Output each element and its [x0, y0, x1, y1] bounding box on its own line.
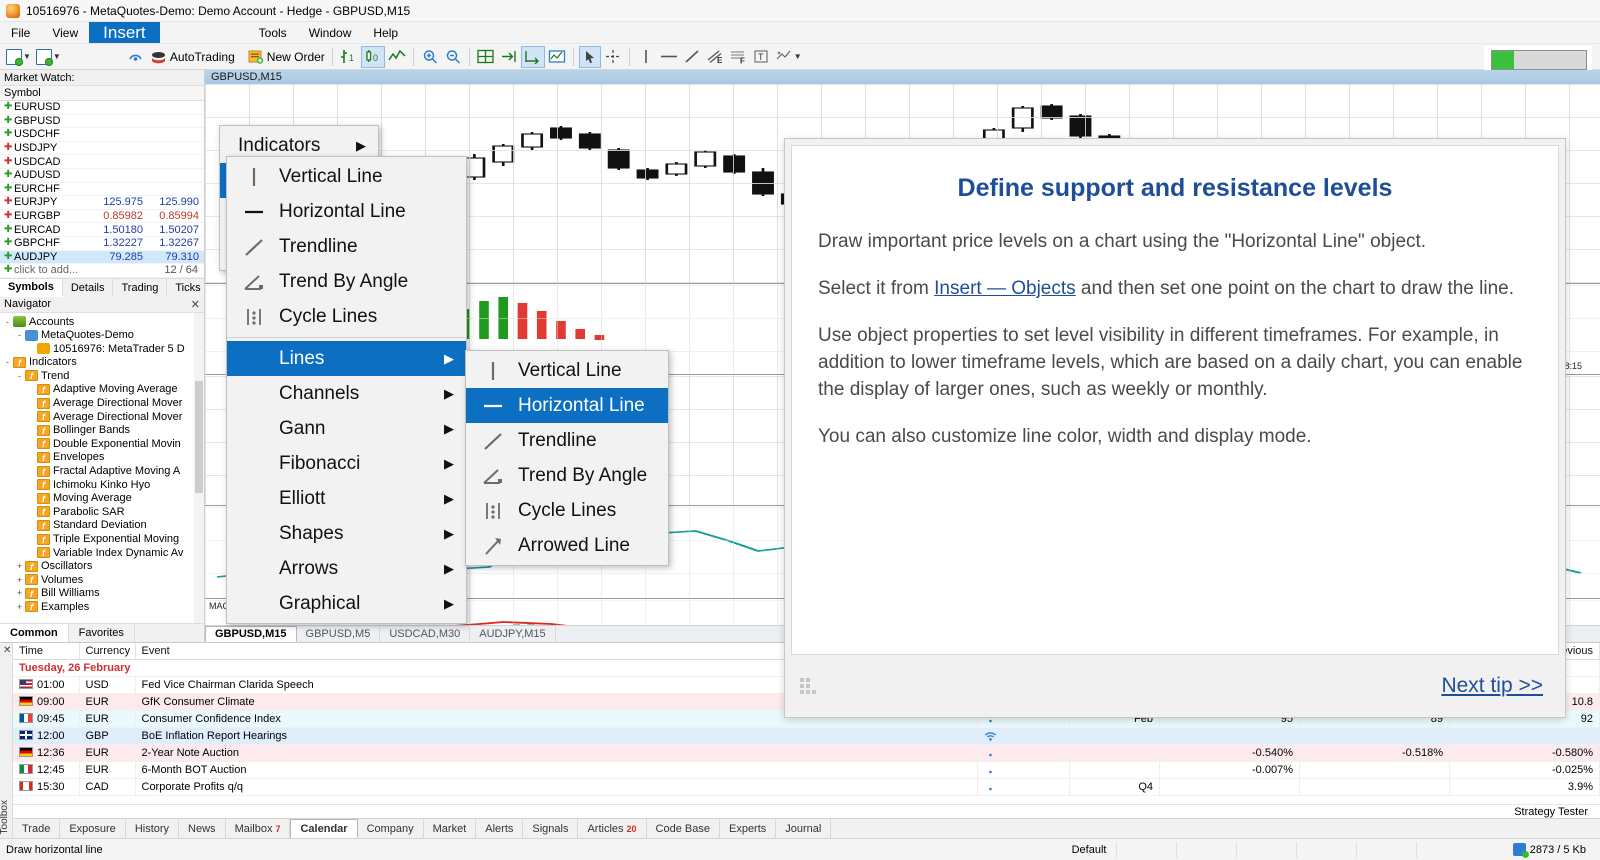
tip-of-the-day-panel: Define support and resistance levels Dra…: [784, 138, 1566, 718]
calendar-priority: [978, 728, 1070, 745]
lines-menu-item-horizontal-line[interactable]: Horizontal Line: [466, 388, 668, 423]
fibonacci-icon: F: [729, 49, 747, 64]
new-order-button[interactable]: New Order: [246, 46, 327, 68]
calendar-priority: [978, 745, 1070, 762]
objects-menu-group-label: Channels: [279, 383, 418, 405]
calendar-row[interactable]: 15:30CADCorporate Profits q/qQ43.9%: [13, 779, 1600, 796]
menu-insert-label: Insert: [103, 23, 146, 43]
chevron-right-icon: ▶: [356, 138, 366, 154]
navigator-tab-common[interactable]: Common: [0, 624, 69, 642]
calendar-currency: CAD: [79, 779, 135, 796]
tree-expander[interactable]: +: [14, 588, 25, 598]
calendar-time: 12:00: [13, 728, 79, 745]
ask-price: 1.32267: [148, 237, 204, 249]
calendar-row[interactable]: 12:36EUR2-Year Note Auction-0.540%-0.518…: [13, 745, 1600, 762]
cycle-lines-icon: [478, 500, 508, 522]
calendar-time: 01:00: [13, 677, 79, 694]
calendar-currency: EUR: [79, 711, 135, 728]
indicator-icon: f: [37, 438, 50, 449]
market-watch-row[interactable]: ✚EURGBP0.859820.85994: [0, 210, 204, 224]
tip-title: Define support and resistance levels: [818, 174, 1532, 203]
navigator-tree-item[interactable]: fFractal Adaptive Moving A: [2, 464, 204, 478]
toolbox-tab-alerts[interactable]: Alerts: [476, 819, 523, 838]
objects-menu-group-elliott[interactable]: Elliott▶: [227, 481, 466, 516]
tree-item-label: Standard Deviation: [53, 519, 147, 531]
objects-menu-group-arrows[interactable]: Arrows▶: [227, 551, 466, 586]
market-watch-tab-ticks[interactable]: Ticks: [167, 279, 209, 297]
objects-menu-group-graphical[interactable]: Graphical▶: [227, 586, 466, 621]
market-watch-row[interactable]: ✚AUDJPY79.28579.310: [0, 251, 204, 265]
menu-help[interactable]: Help: [362, 22, 409, 43]
chart-tab[interactable]: USDCAD,M30: [380, 626, 470, 642]
country-flag-icon: [19, 747, 33, 757]
navigator-tree-item[interactable]: fAverage Directional Mover: [2, 410, 204, 424]
bid-price: 1.50180: [92, 224, 148, 236]
country-flag-icon: [19, 764, 33, 774]
calendar-row[interactable]: 12:45EUR6-Month BOT Auction-0.007%-0.025…: [13, 762, 1600, 779]
vertical-line-icon: [478, 360, 508, 382]
chart-tab[interactable]: GBPUSD,M5: [297, 626, 381, 642]
price-direction-icon: ✚: [4, 225, 14, 235]
progress-fill: [1492, 51, 1514, 69]
tip-p2-after: and then set one point on the chart to d…: [1076, 278, 1514, 299]
indicator-icon: f: [37, 506, 50, 517]
navigator-tree-item[interactable]: fStandard Deviation: [2, 519, 204, 533]
svg-text:T: T: [758, 52, 764, 62]
country-flag-icon: [19, 713, 33, 723]
chevron-down-icon[interactable]: ▼: [53, 52, 61, 61]
market-watch-row[interactable]: ✚EURUSD: [0, 101, 204, 115]
calendar-priority: [978, 779, 1070, 796]
objects-list-button[interactable]: ▼: [773, 46, 804, 68]
price-direction-icon: ✚: [4, 129, 14, 139]
tree-expander[interactable]: +: [14, 561, 25, 571]
bid-price: 0.85982: [92, 210, 148, 222]
left-panel: Market Watch: Symbol ✚EURUSD✚GBPUSD✚USDC…: [0, 70, 205, 642]
toolbox-tab-code-base[interactable]: Code Base: [647, 819, 720, 838]
objects-menu-group-lines[interactable]: Lines▶: [227, 341, 466, 376]
calendar-row[interactable]: 12:00GBPBoE Inflation Report Hearings: [13, 728, 1600, 745]
equidistant-channel-icon: E: [706, 49, 724, 64]
equidistant-channel-tool[interactable]: E: [704, 46, 726, 68]
tree-item-label: Volumes: [41, 574, 83, 586]
market-watch-panel: Market Watch: Symbol ✚EURUSD✚GBPUSD✚USDC…: [0, 70, 204, 297]
market-watch-row[interactable]: ✚EURJPY125.975125.990: [0, 196, 204, 210]
navigator-tree-item[interactable]: fParabolic SAR: [2, 505, 204, 519]
menu-file-label: File: [11, 26, 30, 40]
chevron-right-icon: ▶: [444, 596, 454, 612]
navigator-tree-item[interactable]: +fOscillators: [2, 559, 204, 573]
navigator-tree-item[interactable]: fVariable Index Dynamic Av: [2, 546, 204, 560]
new-order-icon: [248, 50, 264, 64]
menu-help-label: Help: [373, 26, 398, 40]
line-chart-icon: [388, 49, 406, 64]
vertical-line-tool[interactable]: [635, 46, 657, 68]
market-watch-row[interactable]: ✚EURCAD1.501801.50207: [0, 223, 204, 237]
tree-expander[interactable]: -: [2, 357, 13, 367]
toolbox-tab-mailbox[interactable]: Mailbox7: [226, 819, 291, 838]
objects-menu-group-channels[interactable]: Channels▶: [227, 376, 466, 411]
menu-bar: File View Insert Tools Window Help: [0, 22, 1600, 44]
objects-menu-item-label: Trend By Angle: [279, 271, 454, 293]
tree-expander[interactable]: -: [14, 371, 25, 381]
main-toolbar: ▼ ▼ AutoTrading: [0, 44, 1600, 70]
toolbox-tab-label: Company: [367, 823, 414, 835]
ask-price: 1.50207: [148, 224, 204, 236]
calendar-event: Corporate Profits q/q: [135, 779, 978, 796]
vertical-line-icon: [639, 49, 653, 64]
indicator-icon: f: [37, 425, 50, 436]
menu-file[interactable]: File: [0, 22, 41, 43]
metatrader-window: 10516976 - MetaQuotes-Demo: Demo Account…: [0, 0, 1600, 860]
market-watch-row[interactable]: ✚USDCHF: [0, 128, 204, 142]
toolbox-label: Toolbox: [0, 800, 10, 834]
toolbox-tab-label: Alerts: [485, 823, 513, 835]
toolbox-tab-news[interactable]: News: [179, 819, 226, 838]
chart-window-titlebar: GBPUSD,M15: [205, 70, 1600, 84]
network-traffic-label: 2873 / 5 Kb: [1530, 844, 1586, 856]
navigator-scrollbar[interactable]: [194, 313, 204, 623]
zoom-out-icon: [445, 49, 461, 64]
new-chart-button[interactable]: ▼: [4, 46, 33, 68]
bar-chart-icon: 1: [340, 49, 358, 64]
main-area: Market Watch: Symbol ✚EURUSD✚GBPUSD✚USDC…: [0, 70, 1600, 642]
lines-menu-item-arrowed-line[interactable]: Arrowed Line: [466, 528, 668, 563]
toolbox-tab-articles[interactable]: Articles20: [578, 819, 646, 838]
chart-tab[interactable]: AUDJPY,M15: [470, 626, 555, 642]
strategy-tester-strip[interactable]: Strategy Tester: [13, 804, 1600, 818]
tree-item-label: Average Directional Mover: [53, 397, 182, 409]
tip-p2-before: Select it from: [818, 278, 934, 299]
profiles-icon: [36, 49, 52, 65]
chevron-down-icon[interactable]: ▼: [23, 52, 31, 61]
lines-menu-item-trendline[interactable]: Trendline: [466, 423, 668, 458]
status-hint: Draw horizontal line: [6, 844, 117, 856]
indicators-list-icon: [548, 49, 566, 64]
toolbox-tab-company[interactable]: Company: [358, 819, 424, 838]
chevron-right-icon: ▶: [444, 351, 454, 367]
horizontal-line-icon: [478, 395, 508, 417]
market-watch-add-row[interactable]: ✚ click to add... 12 / 64: [0, 264, 204, 278]
toolbox-tab-calendar[interactable]: Calendar: [290, 819, 357, 838]
objects-menu-item[interactable]: Vertical Line: [227, 159, 466, 194]
toolbox-tab-trade[interactable]: Trade: [13, 819, 60, 838]
arrowed-line-icon: [478, 535, 508, 557]
objects-menu-item[interactable]: Cycle Lines: [227, 299, 466, 334]
market-watch-tab-symbols[interactable]: Symbols: [0, 279, 63, 297]
navigator-tree-item[interactable]: fAdaptive Moving Average: [2, 383, 204, 397]
bid-price: 125.975: [92, 196, 148, 208]
navigator-tree-item[interactable]: -fIndicators: [2, 356, 204, 370]
market-watch-title: Market Watch:: [4, 72, 75, 84]
status-profile: Default: [1062, 842, 1118, 858]
price-direction-icon: ✚: [4, 184, 14, 194]
trendline-icon: [684, 49, 700, 64]
navigator-tree-item[interactable]: 10516976: MetaTrader 5 D: [2, 342, 204, 356]
symbol-count-label: 12 / 64: [164, 264, 204, 276]
country-flag-icon: [19, 730, 33, 740]
navigator-tree-item[interactable]: fTriple Exponential Moving: [2, 532, 204, 546]
market-watch-row[interactable]: ✚EURCHF: [0, 183, 204, 197]
tree-expander[interactable]: -: [14, 330, 25, 340]
lines-menu-item-vertical-line[interactable]: Vertical Line: [466, 353, 668, 388]
horizontal-line-tool[interactable]: [658, 46, 680, 68]
status-bar: Draw horizontal line Default 2873 / 5 Kb: [0, 838, 1600, 860]
calendar-event: 6-Month BOT Auction: [135, 762, 978, 779]
navigator-tree-item[interactable]: +fVolumes: [2, 573, 204, 587]
navigator-tree-item[interactable]: fAverage Directional Mover: [2, 396, 204, 410]
indicator-icon: f: [37, 384, 50, 395]
svg-text:1: 1: [349, 53, 354, 63]
tree-item-label: Examples: [41, 601, 89, 613]
tree-expander[interactable]: -: [2, 317, 13, 327]
menu-insert[interactable]: Insert: [89, 22, 160, 43]
symbol-name: EURJPY: [14, 196, 92, 208]
insert-objects-link[interactable]: Insert — Objects: [934, 278, 1076, 299]
navigator-tree-item[interactable]: fDouble Exponential Movin: [2, 437, 204, 451]
calendar-time-label: 15:30: [37, 781, 65, 793]
objects-menu-item-label: Horizontal Line: [279, 201, 454, 223]
calendar-header-currency[interactable]: Currency: [79, 643, 135, 660]
lines-submenu: Vertical LineHorizontal LineTrendlineTre…: [465, 350, 669, 566]
symbol-name: USDJPY: [14, 142, 92, 154]
zoom-out-button[interactable]: [442, 46, 464, 68]
resize-grip-icon[interactable]: [799, 677, 821, 695]
indicator-icon: f: [25, 561, 38, 572]
market-watch-row[interactable]: ✚GBPCHF1.322271.32267: [0, 237, 204, 251]
text-tool[interactable]: T: [750, 46, 772, 68]
menu-tools-label: Tools: [259, 26, 287, 40]
objects-menu-group-label: Graphical: [279, 593, 418, 615]
market-watch-tab-details[interactable]: Details: [63, 279, 114, 297]
market-watch-row[interactable]: ✚GBPUSD: [0, 115, 204, 129]
calendar-previous: -0.580%: [1450, 745, 1600, 762]
network-icon: [1513, 843, 1526, 856]
navigator-tab-favorites[interactable]: Favorites: [69, 624, 135, 642]
price-direction-icon: ✚: [4, 116, 14, 126]
country-flag-icon: [19, 679, 33, 689]
navigator-tree-item[interactable]: -Accounts: [2, 315, 204, 329]
tile-windows-button[interactable]: [475, 46, 497, 68]
zoom-in-icon: [422, 49, 438, 64]
symbol-name: USDCAD: [14, 156, 92, 168]
objects-menu-item-label: Cycle Lines: [279, 306, 454, 328]
market-watch-tabs: SymbolsDetailsTradingTicks: [0, 278, 204, 297]
toolbox-tab-label: Mailbox: [235, 823, 273, 835]
close-icon[interactable]: ✕: [191, 298, 200, 311]
indicator-icon: f: [25, 370, 38, 381]
tree-expander[interactable]: +: [14, 602, 25, 612]
fibonacci-tool[interactable]: F: [727, 46, 749, 68]
new-order-label: New Order: [267, 50, 325, 64]
signals-icon: [127, 49, 144, 64]
calendar-actual: [1160, 728, 1300, 745]
objects-menu-item[interactable]: Horizontal Line: [227, 194, 466, 229]
calendar-time: 12:45: [13, 762, 79, 779]
toolbox-tab-badge: 20: [627, 824, 637, 834]
menu-tools[interactable]: Tools: [248, 22, 298, 43]
chevron-right-icon: ▶: [444, 386, 454, 402]
toolbox-tab-strip: TradeExposureHistoryNewsMailbox7Calendar…: [13, 818, 1600, 838]
tree-item-label: Oscillators: [41, 560, 92, 572]
indicator-icon: f: [25, 588, 38, 599]
indicator-icon: f: [13, 357, 26, 368]
lines-menu-item-label: Vertical Line: [518, 360, 656, 382]
trend-by-angle-icon: [239, 271, 269, 293]
autotrading-button[interactable]: AutoTrading: [148, 46, 237, 68]
auto-scroll-button[interactable]: [521, 46, 545, 68]
navigator-tree-item[interactable]: +fExamples: [2, 600, 204, 614]
objects-menu-item-label: Vertical Line: [279, 166, 454, 188]
tree-item-label: 10516976: MetaTrader 5 D: [53, 343, 185, 355]
indicator-icon: f: [37, 479, 50, 490]
price-direction-icon: ✚: [4, 170, 14, 180]
chevron-right-icon: ▶: [444, 526, 454, 542]
calendar-actual: -0.540%: [1160, 745, 1300, 762]
calendar-time-label: 12:00: [37, 730, 65, 742]
toolbox-tab-history[interactable]: History: [126, 819, 179, 838]
progress-track: [1491, 50, 1587, 70]
candlestick-chart-button[interactable]: 0: [361, 46, 385, 68]
calendar-actual: [1160, 779, 1300, 796]
next-tip-link[interactable]: Next tip >>: [1441, 674, 1543, 698]
lines-menu-item-cycle-lines[interactable]: Cycle Lines: [466, 493, 668, 528]
calendar-time-label: 12:45: [37, 764, 65, 776]
plus-icon: ✚: [4, 265, 14, 275]
indicator-icon: f: [37, 493, 50, 504]
indicator-icon: f: [37, 466, 50, 477]
objects-menu-group-gann[interactable]: Gann▶: [227, 411, 466, 446]
tip-paragraph-3: Use object properties to set level visib…: [818, 323, 1532, 404]
chart-tab[interactable]: GBPUSD,M15: [205, 626, 297, 642]
market-watch-tab-trading[interactable]: Trading: [113, 279, 167, 297]
price-direction-icon: ✚: [4, 157, 14, 167]
crosshair-button[interactable]: [602, 46, 624, 68]
lines-menu-item-trend-by-angle[interactable]: Trend By Angle: [466, 458, 668, 493]
objects-menu-item[interactable]: Trendline: [227, 229, 466, 264]
market-watch-row[interactable]: ✚AUDUSD: [0, 169, 204, 183]
zoom-in-button[interactable]: [419, 46, 441, 68]
calendar-header-time[interactable]: Time: [13, 643, 79, 660]
toolbox-tab-spacer: [831, 819, 1600, 838]
navigator-tree-item[interactable]: fEnvelopes: [2, 451, 204, 465]
objects-menu-item-label: Trendline: [279, 236, 454, 258]
user-icon: [37, 343, 50, 354]
scrollbar-thumb[interactable]: [195, 381, 203, 493]
objects-menu-group-label: Arrows: [279, 558, 418, 580]
price-direction-icon: ✚: [4, 238, 14, 248]
svg-text:F: F: [740, 57, 745, 65]
lines-menu-item-label: Trend By Angle: [518, 465, 656, 487]
indicator-icon: f: [37, 398, 50, 409]
profiles-button[interactable]: ▼: [34, 46, 63, 68]
tree-item-label: Moving Average: [53, 492, 132, 504]
bar-chart-button[interactable]: 1: [338, 46, 360, 68]
objects-menu-group-label: Fibonacci: [279, 453, 418, 475]
objects-menu-group-label: Elliott: [279, 488, 418, 510]
indicator-icon: f: [37, 520, 50, 531]
objects-menu-group-shapes[interactable]: Shapes▶: [227, 516, 466, 551]
tip-paragraph-1: Draw important price levels on a chart u…: [818, 229, 1532, 256]
country-flag-icon: [19, 696, 33, 706]
navigator-tree-item[interactable]: +fBill Williams: [2, 587, 204, 601]
cursor-button[interactable]: [579, 46, 601, 68]
calendar-time-label: 09:00: [37, 696, 65, 708]
close-icon[interactable]: ✕: [3, 645, 11, 656]
navigator-tree-item[interactable]: fBollinger Bands: [2, 423, 204, 437]
insert-menu-indicators-label: Indicators: [238, 135, 330, 157]
trendline-icon: [478, 430, 508, 452]
toolbox-side-strip: ✕ Toolbox: [0, 643, 13, 838]
shift-end-button[interactable]: [498, 46, 520, 68]
tree-item-label: Parabolic SAR: [53, 506, 125, 518]
tree-item-label: MetaQuotes-Demo: [41, 329, 134, 341]
calendar-period: [1070, 728, 1160, 745]
crosshair-icon: [605, 49, 621, 64]
ask-price: 0.85994: [148, 210, 204, 222]
navigator-tree-item[interactable]: -MetaQuotes-Demo: [2, 328, 204, 342]
indicators-list-button[interactable]: [546, 46, 568, 68]
market-watch-row[interactable]: ✚USDCAD: [0, 155, 204, 169]
add-symbol-label: click to add...: [14, 264, 164, 276]
shift-end-icon: [500, 49, 518, 64]
calendar-previous: 3.9%: [1450, 779, 1600, 796]
toolbox-tab-exposure[interactable]: Exposure: [60, 819, 125, 838]
toolbox-tab-market[interactable]: Market: [424, 819, 477, 838]
window-title: 10516976 - MetaQuotes-Demo: Demo Account…: [26, 4, 410, 18]
menu-window[interactable]: Window: [298, 22, 363, 43]
market-watch-row[interactable]: ✚USDJPY: [0, 142, 204, 156]
toolbox-tab-label: Code Base: [656, 823, 710, 835]
horizontal-line-icon: [660, 49, 678, 64]
objects-menu-group-fibonacci[interactable]: Fibonacci▶: [227, 446, 466, 481]
toolbox-tab-signals[interactable]: Signals: [523, 819, 578, 838]
objects-menu-item[interactable]: Trend By Angle: [227, 264, 466, 299]
ask-price: 79.310: [148, 251, 204, 263]
calendar-forecast: -0.518%: [1300, 745, 1450, 762]
bid-price: 1.32227: [92, 237, 148, 249]
navigator-title: Navigator: [4, 298, 51, 310]
calendar-priority: [978, 762, 1070, 779]
tree-expander[interactable]: +: [14, 575, 25, 585]
toolbox-tab-journal[interactable]: Journal: [776, 819, 831, 838]
calendar-period: Q4: [1070, 779, 1160, 796]
lines-menu-item-label: Trendline: [518, 430, 656, 452]
calendar-previous: [1450, 728, 1600, 745]
toolbox-tab-experts[interactable]: Experts: [720, 819, 776, 838]
navigator-tree-item[interactable]: -fTrend: [2, 369, 204, 383]
menu-separator: [227, 337, 466, 338]
navigator-tree-item[interactable]: fMoving Average: [2, 491, 204, 505]
calendar-previous: -0.025%: [1450, 762, 1600, 779]
chevron-down-icon[interactable]: ▼: [794, 52, 802, 61]
trendline-tool[interactable]: [681, 46, 703, 68]
toolbox-tab-label: Experts: [729, 823, 766, 835]
toolbox-tab-label: Articles: [587, 823, 623, 835]
tree-item-label: Accounts: [29, 316, 74, 328]
symbol-name: GBPCHF: [14, 237, 92, 249]
vertical-line-icon: [239, 166, 269, 188]
calendar-forecast: [1300, 728, 1450, 745]
line-chart-button[interactable]: [386, 46, 408, 68]
tree-item-label: Bollinger Bands: [53, 424, 130, 436]
cursor-arrow-icon: [582, 49, 597, 64]
toolbox-tab-label: Journal: [785, 823, 821, 835]
navigator-tree-item[interactable]: fIchimoku Kinko Hyo: [2, 478, 204, 492]
signals-button[interactable]: [125, 46, 147, 68]
menu-view[interactable]: View: [41, 22, 89, 43]
lines-menu-item-label: Arrowed Line: [518, 535, 656, 557]
